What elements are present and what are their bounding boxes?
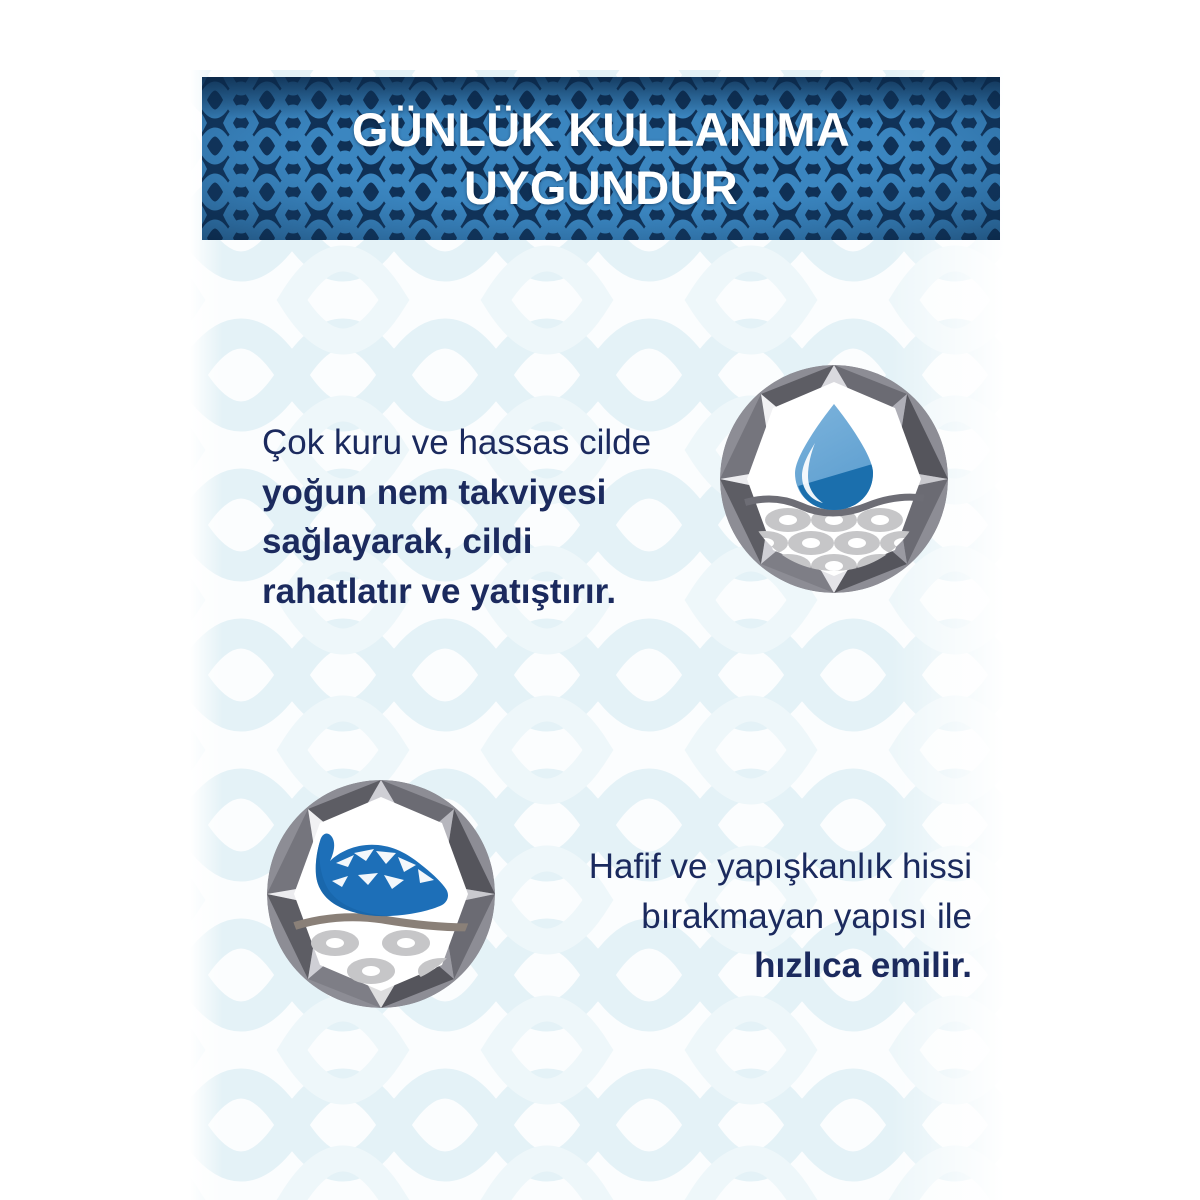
header-banner: GÜNLÜK KULLANIMA UYGUNDUR <box>202 77 1000 240</box>
feature-absorb-text-bold: hızlıca emilir. <box>754 946 972 985</box>
product-feature-infographic: GÜNLÜK KULLANIMA UYGUNDUR Çok kuru ve ha… <box>0 0 1200 1200</box>
feature-absorb: Hafif ve yapışkanlık hissi bırakmayan ya… <box>262 775 962 1025</box>
feature-moisture-text-regular: Çok kuru ve hassas cilde <box>262 423 651 462</box>
feature-absorb-text: Hafif ve yapışkanlık hissi bırakmayan ya… <box>552 842 972 991</box>
water-drop-on-skin-icon <box>715 360 953 598</box>
feature-absorb-text-regular: Hafif ve yapışkanlık hissi bırakmayan ya… <box>589 847 972 936</box>
feature-moisture: Çok kuru ve hassas cilde yoğun nem takvi… <box>262 383 962 613</box>
feature-moisture-text: Çok kuru ve hassas cilde yoğun nem takvi… <box>262 418 672 617</box>
feature-moisture-text-bold: yoğun nem takviyesi sağlayarak, cildi ra… <box>262 473 616 611</box>
feather-on-skin-icon <box>262 775 500 1013</box>
banner-title: GÜNLÜK KULLANIMA UYGUNDUR <box>352 101 850 216</box>
